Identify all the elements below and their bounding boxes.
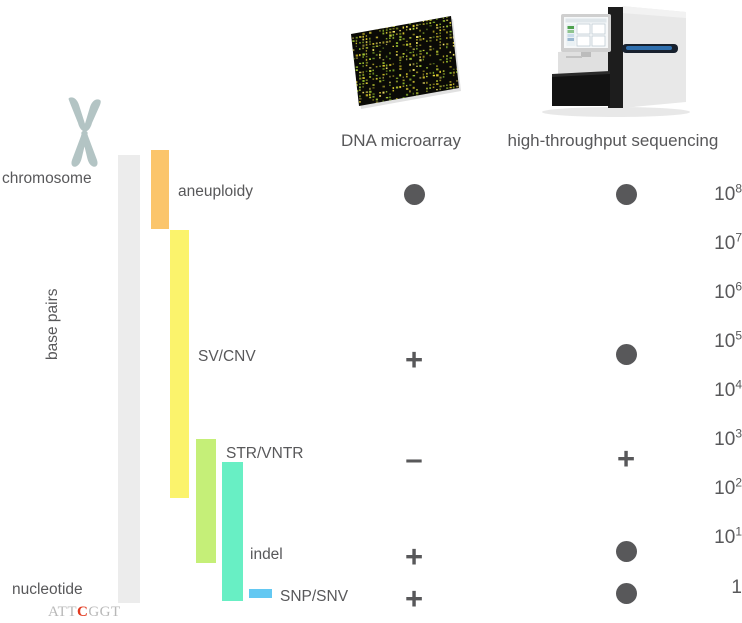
dna-microarray-icon bbox=[337, 8, 465, 113]
dna-sequence-annotation: ATTCGGT bbox=[48, 604, 121, 621]
column-header-dna-microarray: DNA microarray bbox=[341, 131, 461, 151]
axis-endpoint-chromosome: chromosome bbox=[2, 170, 92, 188]
mark-aneuploidy-dna-microarray bbox=[384, 184, 444, 209]
mark-str-vntr-dna-microarray: – bbox=[384, 443, 444, 474]
axis-tick-10e2: 102 bbox=[632, 479, 742, 498]
mark-sv-cnv-high-throughput-sequencing bbox=[596, 344, 656, 369]
sequence-prefix: ATT bbox=[48, 604, 77, 620]
chromosome-icon bbox=[55, 96, 115, 168]
axis-tick-10e6: 106 bbox=[632, 283, 742, 302]
variant-bar-str-vntr bbox=[196, 439, 216, 563]
variant-bar-indel bbox=[222, 462, 243, 601]
sequence-highlighted-base: C bbox=[77, 604, 88, 620]
variant-bar-aneuploidy bbox=[151, 150, 169, 229]
variant-label-str-vntr: STR/VNTR bbox=[226, 445, 304, 463]
variant-label-aneuploidy: aneuploidy bbox=[178, 183, 253, 201]
mark-str-vntr-high-throughput-sequencing: + bbox=[596, 443, 656, 474]
column-header-high-throughput-sequencing: high-throughput sequencing bbox=[508, 131, 719, 151]
variant-label-sv-cnv: SV/CNV bbox=[198, 348, 256, 366]
mark-aneuploidy-high-throughput-sequencing bbox=[596, 184, 656, 209]
axis-tick-10e4: 104 bbox=[632, 381, 742, 400]
mark-snp-snv-dna-microarray: + bbox=[384, 583, 444, 614]
axis-title-base-pairs: base pairs bbox=[44, 288, 62, 360]
axis-endpoint-nucleotide: nucleotide bbox=[12, 581, 83, 599]
mark-sv-cnv-dna-microarray: + bbox=[384, 344, 444, 375]
variant-label-snp-snv: SNP/SNV bbox=[280, 588, 348, 606]
mark-indel-dna-microarray: + bbox=[384, 541, 444, 572]
mark-snp-snv-high-throughput-sequencing bbox=[596, 583, 656, 608]
variant-bar-sv-cnv bbox=[170, 230, 189, 498]
sequencer-machine-icon bbox=[536, 2, 691, 117]
mark-indel-high-throughput-sequencing bbox=[596, 541, 656, 566]
sequence-suffix: GGT bbox=[88, 604, 120, 620]
genomic-variant-detection-figure: base pairs chromosome nucleotide ATTCGGT… bbox=[0, 0, 742, 623]
axis-scale-band bbox=[118, 155, 140, 603]
axis-tick-10e7: 107 bbox=[632, 234, 742, 253]
variant-label-indel: indel bbox=[250, 546, 283, 564]
variant-bar-snp-snv bbox=[249, 589, 272, 598]
